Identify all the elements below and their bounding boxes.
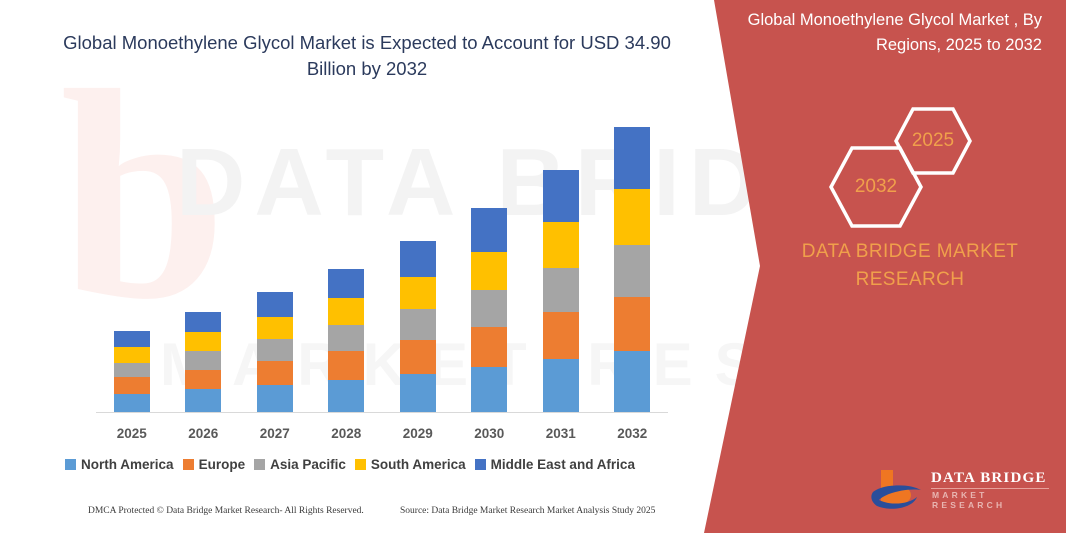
infographic-canvas: b DATA BRIDGE MARKET RESEARCH Global Mon…	[0, 0, 1066, 533]
data-bridge-logo-icon	[869, 466, 927, 514]
hexagon-end-year-label: 2032	[855, 176, 897, 198]
logo-secondary-text: MARKET RESEARCH	[932, 490, 1059, 510]
brand-side-panel: Global Monoethylene Glycol Market , By R…	[0, 0, 1066, 533]
company-logo: DATA BRIDGE MARKET RESEARCH	[869, 466, 1059, 516]
hexagon-start-year-label: 2025	[912, 130, 954, 152]
hexagon-badge-start-year: 2025	[893, 106, 973, 176]
logo-primary-text: DATA BRIDGE	[931, 470, 1047, 487]
logo-divider	[931, 488, 1049, 489]
panel-title: Global Monoethylene Glycol Market , By R…	[742, 8, 1042, 58]
panel-brand-text: DATA BRIDGE MARKET RESEARCH	[760, 238, 1060, 294]
